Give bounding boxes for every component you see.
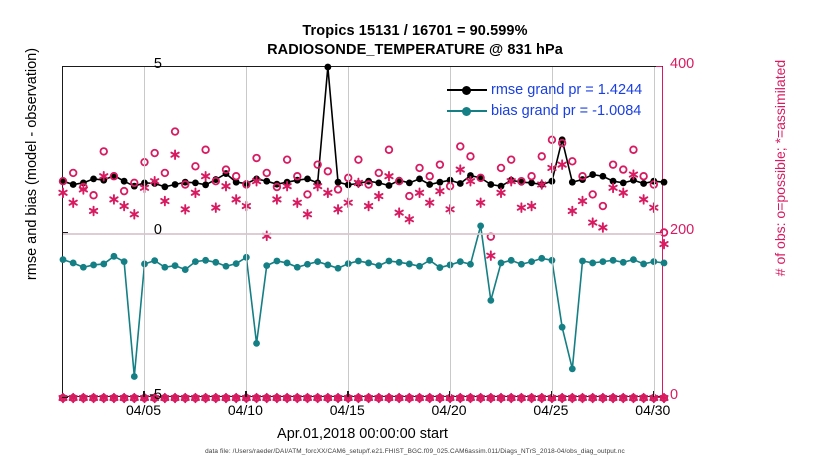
data-point [121,178,128,185]
obs-possible-marker [263,170,270,177]
baseline-obs-marker [294,394,301,402]
baseline-obs-marker [497,394,504,402]
obs-possible-marker [121,188,128,195]
data-point [528,179,535,186]
baseline-obs-marker [518,394,525,402]
data-point [406,261,413,268]
baseline-obs-marker [609,394,616,402]
obs-assimilated-marker [477,198,484,207]
obs-assimilated-marker [304,210,311,219]
baseline-obs-marker [559,394,566,402]
data-point [538,255,545,262]
y-axis-right-tick-label: 400 [670,56,714,72]
baseline-obs-marker [416,394,423,402]
legend-item-bias[interactable]: bias grand pr = -1.0084 [447,101,642,120]
data-point [640,261,647,268]
obs-assimilated-marker [232,195,239,204]
obs-possible-marker [437,161,444,168]
baseline-obs-marker [233,394,240,402]
data-point [436,179,443,186]
data-point [90,262,97,269]
data-point [589,171,596,178]
obs-assimilated-marker [192,188,199,197]
data-point [172,262,179,269]
baseline-obs-marker [324,394,331,402]
data-point [274,258,281,265]
obs-possible-marker [640,173,647,180]
data-point [314,258,321,265]
data-point [202,257,209,264]
data-point [263,178,270,185]
data-point [661,179,668,186]
gridline-vertical [246,67,247,396]
data-point [335,179,342,186]
obs-assimilated-marker [212,203,219,212]
obs-assimilated-marker [497,188,504,197]
baseline-obs-marker [589,394,596,402]
baseline-obs-marker [508,394,515,402]
data-point [396,259,403,266]
data-point [324,262,331,269]
baseline-obs-marker [385,394,392,402]
data-point [80,264,87,271]
data-point [487,181,494,188]
y-axis-right-tick-label: 0 [670,387,714,403]
obs-possible-marker [70,170,77,177]
baseline-obs-marker [426,394,433,402]
obs-assimilated-marker [110,195,117,204]
obs-assimilated-marker [630,170,637,179]
obs-possible-marker [253,155,260,162]
baseline-obs-marker [467,394,474,402]
x-axis-tickmark [449,391,450,397]
obs-possible-marker [304,191,311,198]
baseline-obs-marker [477,394,484,402]
data-point [202,181,209,188]
obs-assimilated-marker [457,165,464,174]
obs-assimilated-marker [609,184,616,193]
data-point [70,181,77,188]
baseline-obs-marker [538,394,545,402]
title-line-1: Tropics 15131 / 16701 = 90.599% [0,22,830,41]
chart-root: Tropics 15131 / 16701 = 90.599% RADIOSON… [0,0,830,470]
x-axis-tick-label: 04/30 [635,402,670,418]
obs-possible-marker [335,186,342,193]
data-point [620,259,627,266]
x-axis-tickmark [653,391,654,397]
obs-assimilated-marker [59,188,66,197]
x-axis-tick-label: 04/05 [126,402,161,418]
baseline-obs-marker [171,394,178,402]
obs-possible-marker [426,173,433,180]
baseline-obs-marker [406,394,413,402]
baseline-obs-marker [100,394,107,402]
obs-assimilated-marker [569,207,576,216]
baseline-obs-marker [182,394,189,402]
legend: rmse grand pr = 1.4244 bias grand pr = -… [447,80,642,122]
obs-possible-marker [202,146,209,153]
data-point [131,373,138,380]
baseline-obs-marker [192,394,199,402]
data-point [375,179,382,186]
baseline-obs-marker [70,394,77,402]
baseline-obs-marker [110,394,117,402]
data-point [508,257,515,264]
obs-assimilated-marker [161,197,168,206]
obs-assimilated-marker [406,215,413,224]
legend-label-rmse: rmse grand pr = 1.4244 [491,82,642,98]
data-point [386,182,393,189]
x-axis-label: Apr.01,2018 00:00:00 start [62,426,663,442]
data-point [569,365,576,372]
obs-possible-marker [457,143,464,150]
x-axis-tickmark [551,391,552,397]
data-point [457,180,464,187]
obs-possible-marker [508,156,515,163]
obs-assimilated-marker [294,198,301,207]
data-point [172,181,179,188]
baseline-obs-marker [640,394,647,402]
y-axis-right-tick-label: 200 [670,222,714,238]
data-point [212,259,219,266]
data-point [498,260,505,267]
x-axis-tick-label: 04/10 [228,402,263,418]
y-axis-left-tickmark [62,66,68,67]
data-point [233,260,240,267]
obs-assimilated-marker [120,202,127,211]
data-point [416,263,423,270]
data-point [355,258,362,265]
obs-assimilated-marker [182,205,189,214]
baseline-obs-marker [599,394,606,402]
obs-assimilated-marker [90,207,97,216]
data-point [518,261,525,268]
data-point [253,340,260,347]
obs-possible-marker [589,191,596,198]
data-point [406,179,413,186]
data-point [487,297,494,304]
obs-possible-marker [284,156,291,163]
data-point [375,262,382,269]
baseline-obs-marker [263,394,270,402]
data-point [294,264,301,271]
data-point [477,222,484,229]
obs-possible-marker [416,165,423,172]
data-point [661,260,668,267]
y-axis-left-label: rmse and bias (model - observation) [24,14,40,314]
obs-possible-marker [538,153,545,160]
y-axis-left-tick-label: 0 [122,222,162,238]
legend-label-bias: bias grand pr = -1.0084 [491,103,641,119]
baseline-obs-marker [273,394,280,402]
obs-assimilated-marker [385,172,392,181]
obs-assimilated-marker [426,198,433,207]
obs-assimilated-marker [528,202,535,211]
data-point [284,260,291,267]
obs-assimilated-marker [222,182,229,191]
data-point [630,256,637,263]
data-point [304,175,311,182]
obs-possible-marker [630,146,637,153]
y-axis-left-tick-label: -5 [122,387,162,403]
y-axis-left-tickmark [62,232,68,233]
obs-assimilated-marker [365,202,372,211]
data-point [60,256,67,263]
obs-possible-marker [355,156,362,163]
obs-possible-marker [233,173,240,180]
data-point [182,266,189,273]
y-axis-right-tickmark [656,66,662,67]
data-point [263,262,270,269]
obs-assimilated-marker [334,205,341,214]
obs-possible-marker [100,148,107,155]
baseline-obs-marker [355,394,362,402]
baseline-obs-marker [457,394,464,402]
obs-assimilated-marker [375,192,382,201]
obs-assimilated-marker [395,208,402,217]
obs-assimilated-marker [416,188,423,197]
obs-assimilated-marker [558,160,565,169]
baseline-obs-marker [579,394,586,402]
x-axis-tickmark [143,391,144,397]
obs-assimilated-marker [599,223,606,232]
data-point [599,258,606,265]
data-point [365,260,372,267]
data-point [304,261,311,268]
x-axis-tickmark [347,391,348,397]
obs-assimilated-marker [202,172,209,181]
data-point [386,258,393,265]
baseline-obs-marker [314,394,321,402]
y-axis-right-tickmark [656,397,662,398]
obs-possible-marker [467,153,474,160]
baseline-obs-marker [487,394,494,402]
baseline-obs-marker [284,394,291,402]
legend-marker-rmse [447,84,487,96]
obs-assimilated-marker [69,198,76,207]
data-point [610,257,617,264]
baseline-obs-marker [365,394,372,402]
x-axis-tick-label: 04/20 [432,402,467,418]
data-point [426,257,433,264]
obs-possible-marker [610,161,617,168]
obs-possible-marker [90,192,97,199]
baseline-obs-marker [528,394,535,402]
obs-assimilated-marker [518,203,525,212]
obs-assimilated-marker [620,188,627,197]
obs-possible-marker [375,170,382,177]
obs-assimilated-marker [171,150,178,159]
data-point [528,258,535,265]
data-point [640,180,647,187]
obs-possible-marker [528,173,535,180]
obs-possible-marker [620,166,627,173]
obs-possible-marker [498,165,505,172]
baseline-obs-marker [202,394,209,402]
gridline-vertical [348,67,349,396]
obs-possible-marker [406,193,413,200]
data-point [457,258,464,265]
data-point [100,261,107,268]
x-axis-tick-label: 04/25 [533,402,568,418]
obs-assimilated-marker [436,187,443,196]
baseline-obs-marker [212,394,219,402]
obs-assimilated-marker [660,240,667,249]
obs-assimilated-marker [640,195,647,204]
baseline-obs-marker [620,394,627,402]
data-file-footer: data file: /Users/raeder/DAI/ATM_forcXX/… [0,448,830,455]
obs-possible-marker [192,163,199,170]
baseline-obs-marker [80,394,87,402]
y-axis-left-tick-label: 5 [122,56,162,72]
data-point [426,181,433,188]
y-axis-right-label: # of obs: o=possible; *=assimilated [772,18,788,318]
data-point [579,258,586,265]
data-point [589,260,596,267]
y-axis-left-tickmark [62,397,68,398]
obs-assimilated-marker [579,197,586,206]
data-point [324,64,331,71]
obs-assimilated-marker [589,218,596,227]
data-point [599,173,606,180]
obs-possible-marker [172,128,179,135]
data-point [90,175,97,182]
chart-title: Tropics 15131 / 16701 = 90.599% RADIOSON… [0,22,830,60]
data-point [70,260,77,267]
legend-item-rmse[interactable]: rmse grand pr = 1.4244 [447,80,642,99]
data-point [467,261,474,268]
baseline-obs-marker [253,394,260,402]
gridline-vertical [654,67,655,396]
baseline-obs-marker [334,394,341,402]
data-point [559,324,566,331]
data-point [161,264,168,271]
obs-assimilated-marker [131,210,138,219]
data-point [223,263,230,270]
obs-assimilated-marker [487,251,494,260]
baseline-obs-marker [161,394,168,402]
obs-possible-marker [162,170,169,177]
baseline-obs-marker [396,394,403,402]
data-point [416,175,423,182]
legend-marker-bias [447,105,487,117]
baseline-obs-marker [90,394,97,402]
data-point [335,265,342,272]
data-point [620,179,627,186]
obs-possible-marker [600,203,607,210]
obs-possible-marker [151,150,158,157]
baseline-obs-marker [222,394,229,402]
data-point [161,183,168,190]
obs-possible-marker [325,168,332,175]
baseline-obs-marker [630,394,637,402]
obs-assimilated-marker [273,195,280,204]
data-point [121,258,128,265]
baseline-obs-marker [569,394,576,402]
data-point [569,179,576,186]
data-point [192,258,199,265]
obs-possible-marker [386,146,393,153]
obs-possible-marker [569,158,576,165]
baseline-obs-marker [436,394,443,402]
data-point [192,179,199,186]
data-point [111,253,118,260]
x-axis-tickmark [245,391,246,397]
data-point [151,257,158,264]
data-point [436,264,443,271]
x-axis-tick-label: 04/15 [330,402,365,418]
obs-assimilated-marker [324,188,331,197]
series-line [63,226,664,377]
baseline-obs-marker [375,394,382,402]
y-axis-right-tickmark [656,232,662,233]
baseline-obs-marker [304,394,311,402]
